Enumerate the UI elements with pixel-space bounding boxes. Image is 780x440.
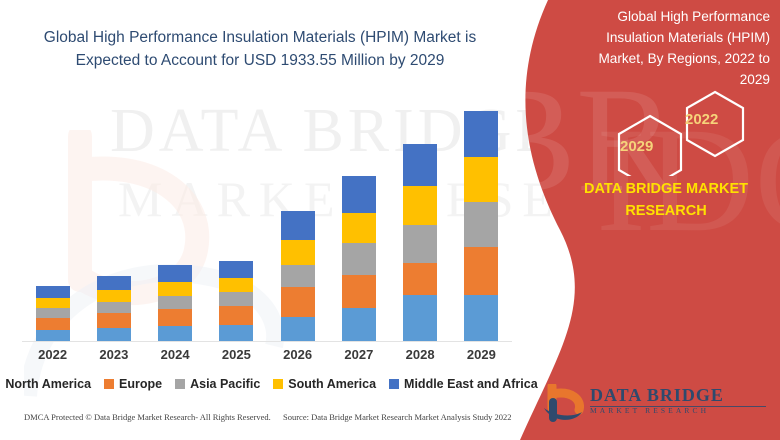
logo-text: DATA BRIDGE MARKET RESEARCH <box>590 386 724 416</box>
bar-segment[interactable] <box>281 317 315 341</box>
footnote-source: Source: Data Bridge Market Research Mark… <box>283 412 512 422</box>
bar-segment[interactable] <box>36 286 70 298</box>
bar-segment[interactable] <box>219 278 253 292</box>
x-axis-tick-label: 2022 <box>25 347 81 367</box>
bar-column <box>392 100 448 341</box>
x-axis-tick-label: 2028 <box>392 347 448 367</box>
bar-segment[interactable] <box>219 292 253 306</box>
bar-segment[interactable] <box>158 265 192 282</box>
bar-segment[interactable] <box>219 325 253 341</box>
bar-column <box>270 100 326 341</box>
footer-logo: DATA BRIDGE MARKET RESEARCH <box>538 382 768 426</box>
bar-segment[interactable] <box>97 302 131 313</box>
bar-segment[interactable] <box>281 287 315 317</box>
bar-segment[interactable] <box>158 326 192 341</box>
bar-segment[interactable] <box>342 213 376 243</box>
hexagon-icons <box>575 86 760 176</box>
bar-segment[interactable] <box>97 276 131 290</box>
bar-segment[interactable] <box>97 328 131 341</box>
bar-segment[interactable] <box>342 275 376 308</box>
stacked-bar[interactable] <box>464 111 498 341</box>
bar-column <box>208 100 264 341</box>
bar-segment[interactable] <box>97 313 131 328</box>
legend-label: Asia Pacific <box>190 377 260 391</box>
bar-segment[interactable] <box>281 265 315 287</box>
x-axis-line <box>22 341 512 342</box>
stacked-bar[interactable] <box>158 265 192 341</box>
bar-segment[interactable] <box>403 186 437 224</box>
bar-segment[interactable] <box>97 290 131 302</box>
hexagon-start-year-label: 2029 <box>620 138 653 155</box>
legend-label: North America <box>5 377 91 391</box>
bar-group <box>22 100 512 341</box>
bar-segment[interactable] <box>403 144 437 186</box>
brand-name: DATA BRIDGE MARKET RESEARCH <box>560 178 772 222</box>
stacked-bar[interactable] <box>219 261 253 341</box>
chart-panel: Global High Performance Insulation Mater… <box>0 0 540 440</box>
bar-column <box>331 100 387 341</box>
footnote-copyright: DMCA Protected © Data Bridge Market Rese… <box>24 412 271 422</box>
stacked-bar[interactable] <box>97 276 131 341</box>
stacked-bar[interactable] <box>281 211 315 342</box>
bar-segment[interactable] <box>464 295 498 341</box>
legend-label: South America <box>288 377 376 391</box>
bar-segment[interactable] <box>158 296 192 309</box>
logo-divider <box>590 406 766 407</box>
footnotes: DMCA Protected © Data Bridge Market Rese… <box>0 412 520 432</box>
x-axis-tick-label: 2023 <box>86 347 142 367</box>
bar-segment[interactable] <box>403 263 437 295</box>
bar-segment[interactable] <box>342 176 376 212</box>
bar-segment[interactable] <box>36 330 70 341</box>
stacked-bar[interactable] <box>342 176 376 341</box>
bar-segment[interactable] <box>464 202 498 246</box>
logo-name: DATA BRIDGE <box>590 386 724 405</box>
legend-swatch-icon <box>389 379 399 389</box>
hexagon-end-year-label: 2022 <box>685 111 718 128</box>
bar-segment[interactable] <box>158 309 192 326</box>
bar-segment[interactable] <box>342 243 376 275</box>
legend-swatch-icon <box>104 379 114 389</box>
chart-plot-area <box>22 100 512 342</box>
legend-label: Europe <box>119 377 162 391</box>
bar-segment[interactable] <box>403 225 437 263</box>
legend-swatch-icon <box>175 379 185 389</box>
x-axis-tick-label: 2027 <box>331 347 387 367</box>
bar-segment[interactable] <box>464 111 498 157</box>
bar-column <box>147 100 203 341</box>
data-bridge-logo-icon <box>538 384 584 424</box>
bar-column <box>25 100 81 341</box>
hexagon-pair: 2022 2029 <box>575 86 760 176</box>
bar-segment[interactable] <box>403 295 437 341</box>
bar-segment[interactable] <box>158 282 192 296</box>
x-axis-tick-label: 2026 <box>270 347 326 367</box>
legend-item[interactable]: Asia Pacific <box>175 377 260 391</box>
stacked-bar[interactable] <box>403 144 437 341</box>
x-axis-tick-label: 2025 <box>208 347 264 367</box>
infographic-root: DATA BRIDGE MARKET RESEARCH Global High … <box>0 0 780 440</box>
chart-title: Global High Performance Insulation Mater… <box>30 26 490 72</box>
bar-segment[interactable] <box>36 318 70 330</box>
bar-segment[interactable] <box>36 308 70 318</box>
bar-segment[interactable] <box>464 247 498 295</box>
x-axis-tick-label: 2024 <box>147 347 203 367</box>
bar-segment[interactable] <box>464 157 498 202</box>
legend-item[interactable]: Europe <box>104 377 162 391</box>
bar-segment[interactable] <box>281 240 315 265</box>
x-axis-tick-labels: 20222023202420252026202720282029 <box>22 347 512 367</box>
stacked-bar[interactable] <box>36 286 70 341</box>
brand-line-1: DATA BRIDGE MARKET <box>560 178 772 200</box>
legend-swatch-icon <box>273 379 283 389</box>
legend-item[interactable]: South America <box>273 377 376 391</box>
right-panel-title: Global High Performance Insulation Mater… <box>578 6 770 90</box>
bar-segment[interactable] <box>219 261 253 278</box>
bar-segment[interactable] <box>36 298 70 308</box>
bar-segment[interactable] <box>219 306 253 325</box>
bar-column <box>86 100 142 341</box>
brand-line-2: RESEARCH <box>560 200 772 222</box>
chart-legend: North AmericaEuropeAsia PacificSouth Ame… <box>14 374 514 394</box>
bar-segment[interactable] <box>342 308 376 341</box>
legend-item[interactable]: North America <box>0 377 91 391</box>
bar-segment[interactable] <box>281 211 315 240</box>
